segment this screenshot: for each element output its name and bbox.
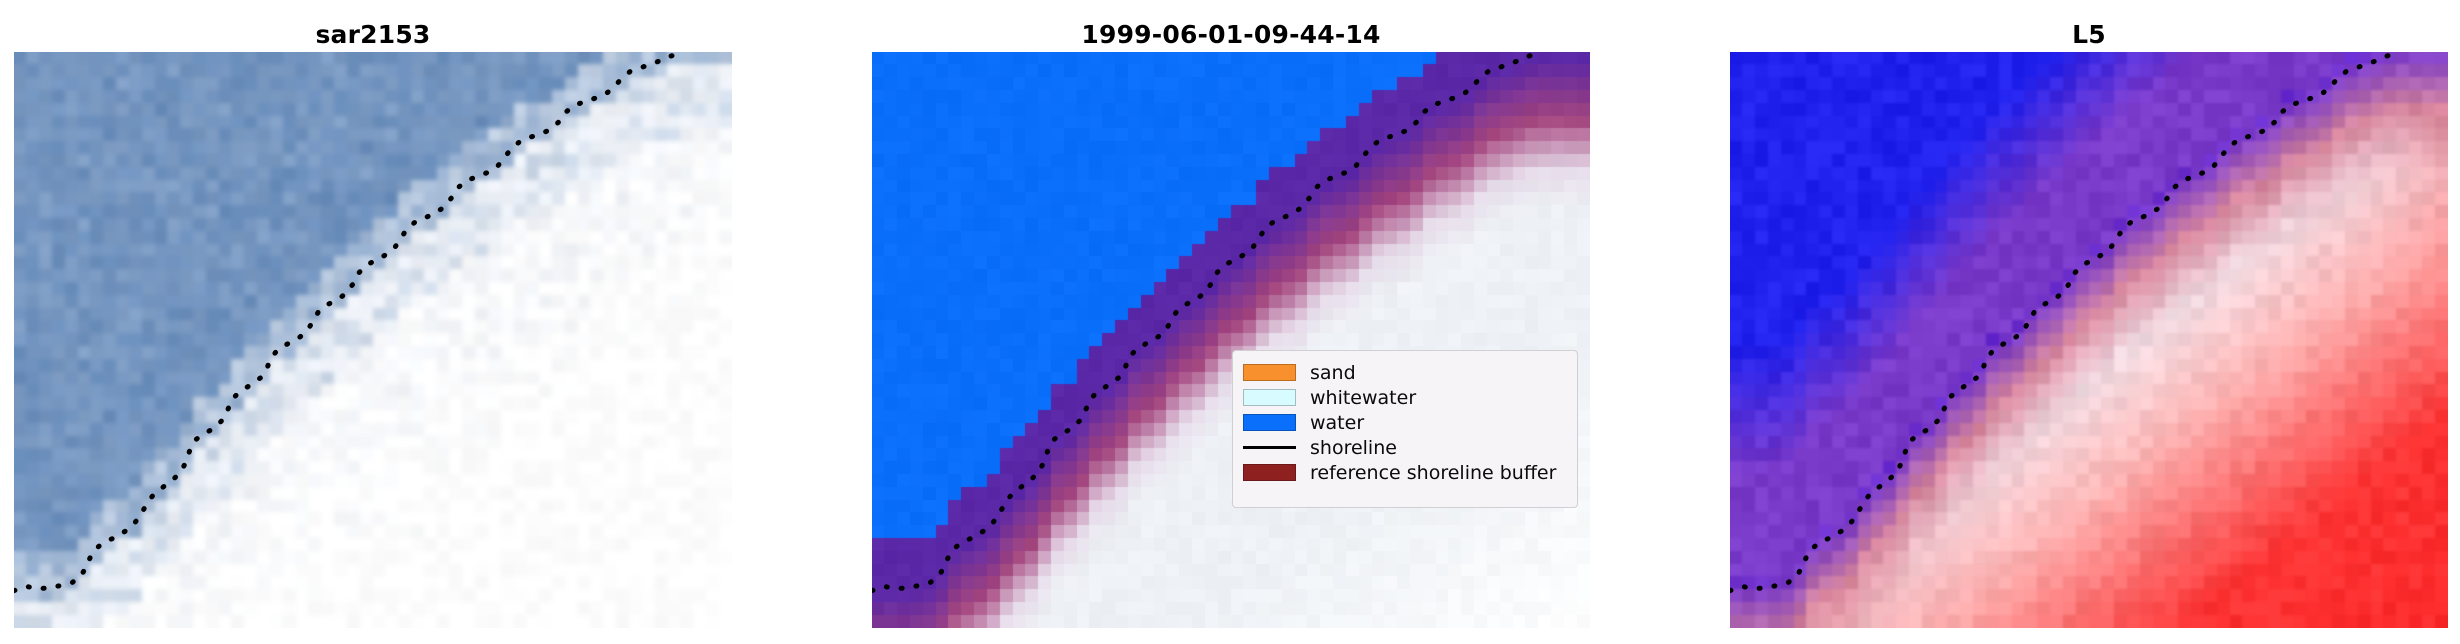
legend-item-whitewater: whitewater bbox=[1243, 385, 1565, 410]
figure-canvas: sar2153 1999-06-01-09-44-14 L5 sand whit… bbox=[0, 0, 2460, 644]
panel-l5: L5 bbox=[1730, 18, 2448, 628]
legend-item-water: water bbox=[1243, 410, 1565, 435]
axes-l5 bbox=[1730, 52, 2448, 628]
legend-swatch-whitewater bbox=[1243, 389, 1296, 406]
panel-title-sar: sar2153 bbox=[14, 18, 732, 52]
panel-classification: 1999-06-01-09-44-14 bbox=[872, 18, 1590, 628]
legend-label-shoreline: shoreline bbox=[1310, 437, 1397, 459]
legend-item-sand: sand bbox=[1243, 360, 1565, 385]
legend-item-reference-shoreline-buffer: reference shoreline buffer bbox=[1243, 460, 1565, 485]
legend-label-whitewater: whitewater bbox=[1310, 387, 1416, 409]
legend-swatch-sand bbox=[1243, 364, 1296, 381]
legend-label-reference-shoreline-buffer: reference shoreline buffer bbox=[1310, 462, 1556, 484]
axes-classification bbox=[872, 52, 1590, 628]
legend-swatch-shoreline bbox=[1243, 446, 1296, 449]
legend-item-shoreline: shoreline bbox=[1243, 435, 1565, 460]
legend-swatch-reference-shoreline-buffer bbox=[1243, 464, 1296, 481]
panel-sar: sar2153 bbox=[14, 18, 732, 628]
legend-box: sand whitewater water shoreline referenc… bbox=[1232, 350, 1578, 508]
axes-sar bbox=[14, 52, 732, 628]
classification-raster-image bbox=[872, 52, 1590, 628]
panel-title-classification: 1999-06-01-09-44-14 bbox=[872, 18, 1590, 52]
panel-title-l5: L5 bbox=[1730, 18, 2448, 52]
legend-label-water: water bbox=[1310, 412, 1364, 434]
legend-swatch-water bbox=[1243, 414, 1296, 431]
legend-label-sand: sand bbox=[1310, 362, 1356, 384]
l5-raster-image bbox=[1730, 52, 2448, 628]
sar-raster-image bbox=[14, 52, 732, 628]
